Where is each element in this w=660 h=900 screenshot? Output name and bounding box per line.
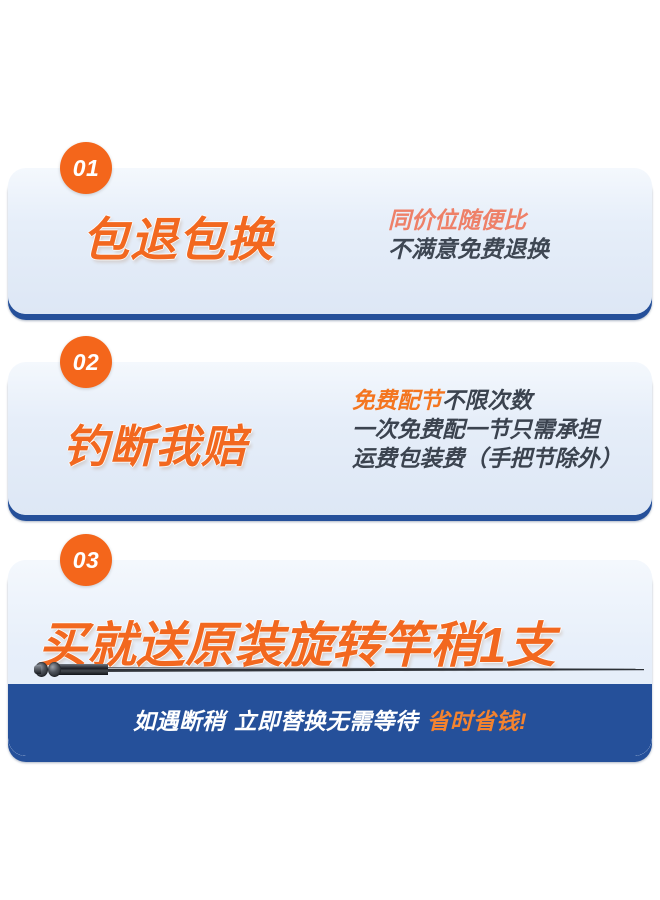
card-badge-number: 03 bbox=[60, 534, 112, 586]
card-01-subtext-line-1: 同价位随便比 bbox=[388, 206, 549, 235]
fishing-rod-tip-photo bbox=[34, 658, 644, 680]
card-badge-number: 02 bbox=[60, 336, 112, 388]
rod-grip-section bbox=[56, 664, 108, 675]
card-03-footer-bar: 如遇断稍立即替换无需等待省时省钱! bbox=[8, 684, 652, 756]
card-02-subtext: 免费配节不限次数 一次免费配一节只需承担 运费包装费（手把节除外） bbox=[352, 387, 622, 473]
card-01-subtext: 同价位随便比 不满意免费退换 bbox=[388, 206, 549, 265]
rod-end-cap bbox=[34, 665, 41, 674]
card-02-subtext-highlight: 免费配节 bbox=[352, 388, 442, 413]
card-02-subtext-line-2: 一次免费配一节只需承担 bbox=[352, 416, 622, 445]
card-01-subtext-line-2: 不满意免费退换 bbox=[388, 235, 549, 264]
card-02-subtext-line-1-rest: 不限次数 bbox=[442, 388, 532, 413]
rod-highlight bbox=[64, 668, 624, 669]
rod-shaft bbox=[60, 667, 644, 672]
benefit-card-01: 01 包退包换 同价位随便比 不满意免费退换 bbox=[8, 168, 652, 314]
benefit-card-03: 03 买就送原装旋转竿稍1支 如遇断稍立即替换无需等待省时省钱! bbox=[8, 560, 652, 756]
card-02-subtext-line-1: 免费配节不限次数 bbox=[352, 387, 622, 416]
rod-knob-icon bbox=[48, 662, 61, 677]
card-02-subtext-line-3: 运费包装费（手把节除外） bbox=[352, 445, 622, 474]
card-02-headline: 钓断我赔 bbox=[63, 410, 247, 475]
footer-highlight-text: 省时省钱! bbox=[427, 709, 527, 734]
footer-segment-2: 立即替换无需等待 bbox=[234, 709, 418, 734]
card-02-content: 钓断我赔 免费配节不限次数 一次免费配一节只需承担 运费包装费（手把节除外） bbox=[8, 362, 652, 515]
card-01-headline: 包退包换 bbox=[82, 201, 274, 270]
footer-segment-1: 如遇断稍 bbox=[133, 709, 225, 734]
benefit-card-02: 02 钓断我赔 免费配节不限次数 一次免费配一节只需承担 运费包装费（手把节除外… bbox=[8, 362, 652, 515]
card-badge-number: 01 bbox=[60, 142, 112, 194]
promo-page: 01 包退包换 同价位随便比 不满意免费退换 02 钓断我赔 免费配节不限次数 … bbox=[0, 0, 660, 900]
card-03-footer-text: 如遇断稍立即替换无需等待省时省钱! bbox=[133, 704, 527, 736]
card-01-content: 包退包换 同价位随便比 不满意免费退换 bbox=[8, 168, 652, 314]
card-03-content: 买就送原装旋转竿稍1支 如遇断稍立即替换无需等待省时省钱! bbox=[8, 560, 652, 756]
